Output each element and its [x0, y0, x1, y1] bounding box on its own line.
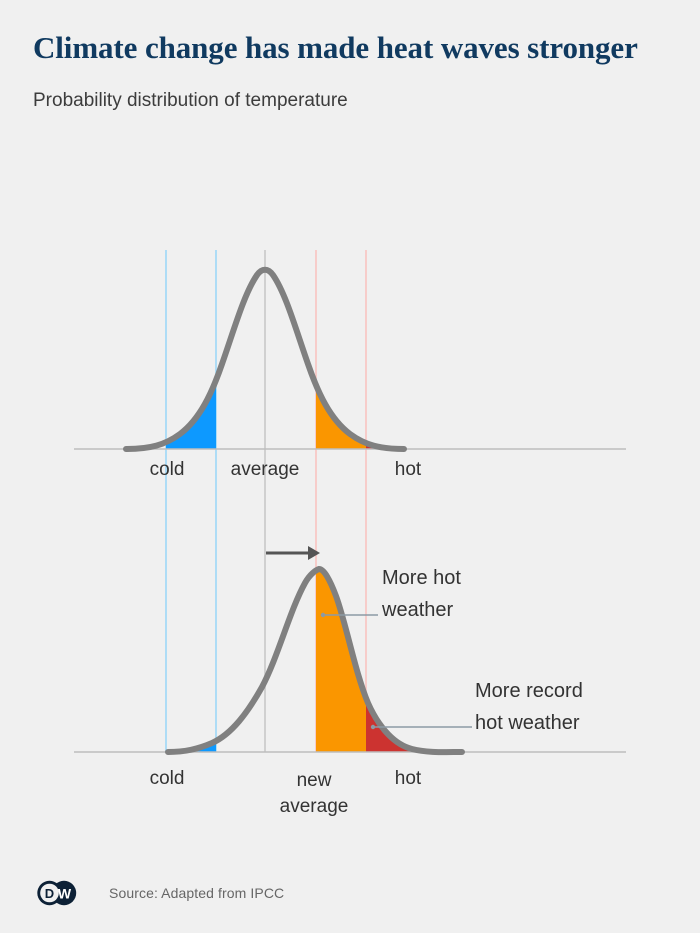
axis-label-hot-top: hot — [395, 459, 421, 481]
axis-label-hot-bottom: hot — [395, 768, 421, 790]
svg-text:D: D — [45, 886, 54, 901]
chart-graphics — [0, 0, 700, 933]
area-cold-top — [166, 250, 216, 449]
area-cold-bottom — [166, 552, 216, 752]
shift-arrow-icon — [266, 546, 320, 560]
axis-label-cold-top: cold — [150, 459, 185, 481]
axis-label-cold-bottom: cold — [150, 768, 185, 790]
area-record-hot-top — [366, 250, 426, 449]
svg-text:W: W — [58, 886, 72, 902]
axis-label-new-average-bottom: new average — [280, 768, 349, 819]
panel-previous-climate — [74, 250, 626, 449]
guide-lines — [166, 250, 366, 752]
axis-label-new-average-line1: new — [280, 768, 349, 794]
source-text: Source: Adapted from IPCC — [109, 885, 284, 901]
leader-line-more-record-hot — [371, 725, 472, 729]
axis-label-new-average-line2: average — [280, 794, 349, 820]
dw-logo-icon: D W — [35, 880, 79, 906]
header: Climate change has made heat waves stron… — [33, 28, 653, 114]
footer: D W Source: Adapted from IPCC — [35, 880, 284, 906]
infographic-root: Climate change has made heat waves stron… — [0, 0, 700, 933]
axis-label-average-top: average — [231, 459, 300, 481]
page-title: Climate change has made heat waves stron… — [33, 28, 653, 69]
distribution-curve-previous — [126, 270, 404, 449]
annotation-more-hot-weather: More hot weather — [382, 562, 461, 626]
leader-line-more-hot — [321, 613, 378, 617]
area-more-hot-bottom — [316, 552, 366, 752]
page-subtitle: Probability distribution of temperature — [33, 69, 653, 114]
area-hot-top — [316, 250, 366, 449]
annotation-more-record-hot-weather: More record hot weather — [475, 675, 583, 739]
